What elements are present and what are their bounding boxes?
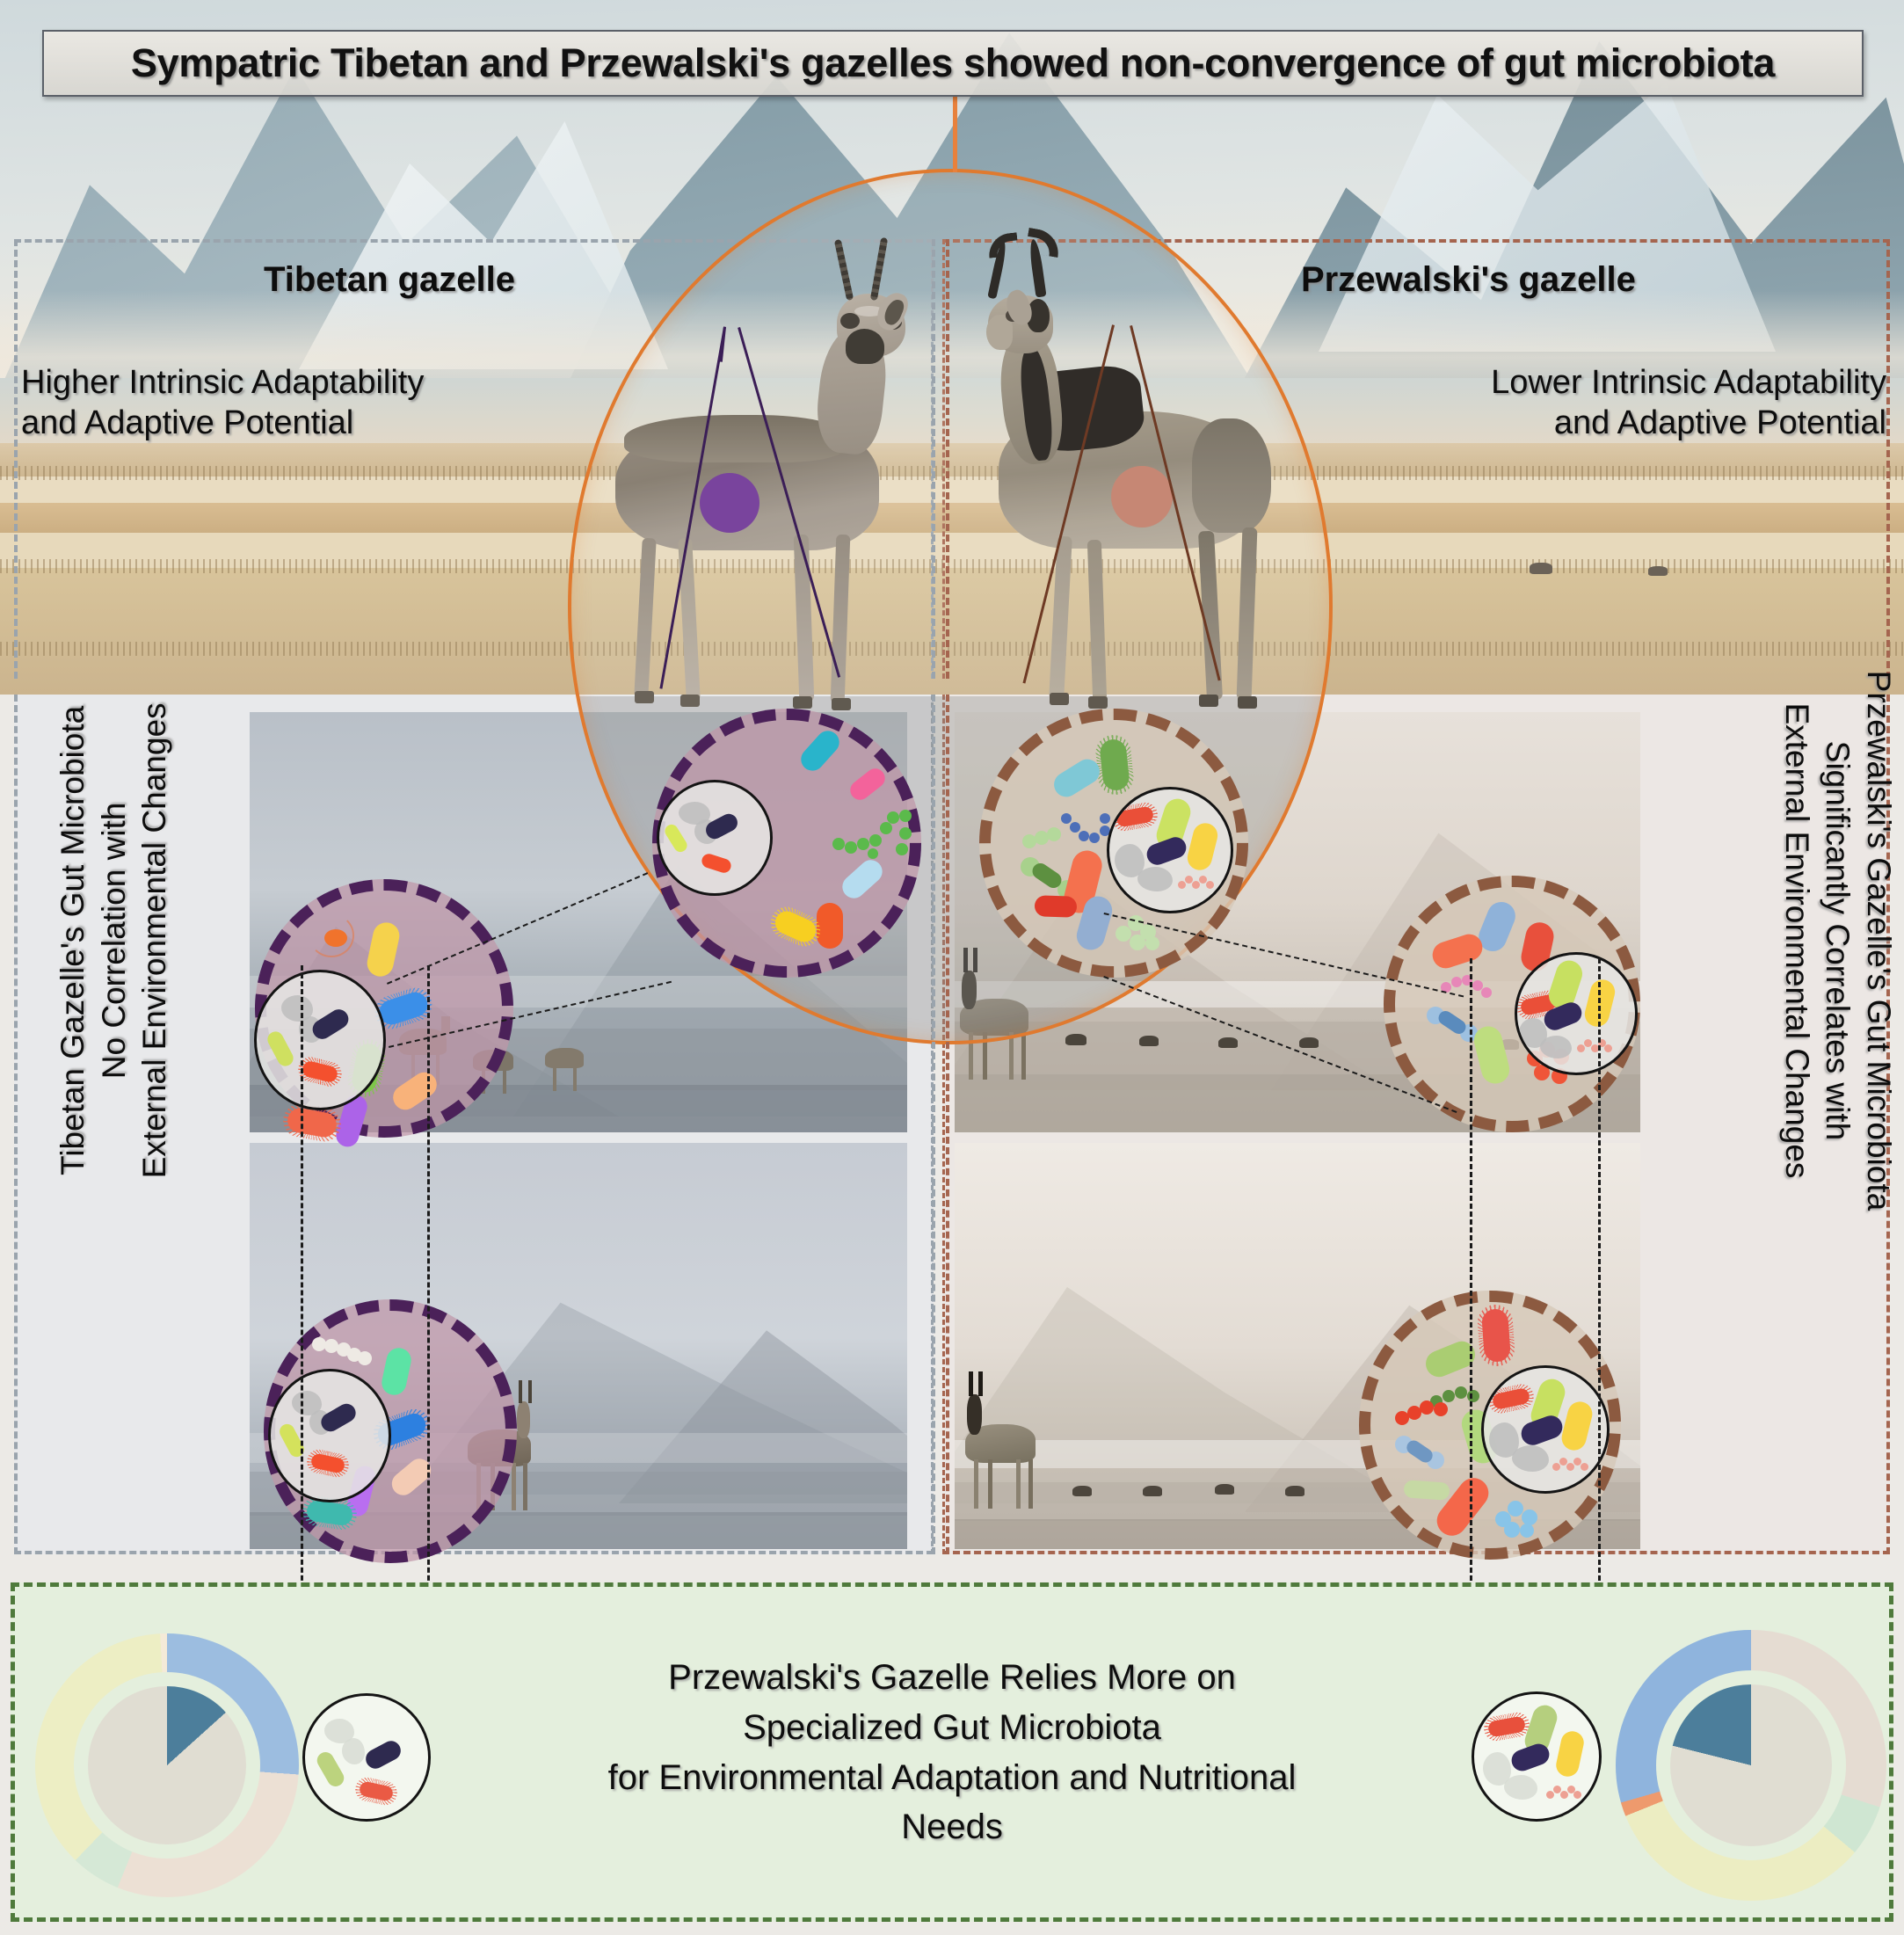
red-rod-icon	[1492, 1387, 1531, 1410]
blue-diplo-icon	[1395, 1434, 1444, 1471]
graphical-abstract: Sympatric Tibetan and Przewalski's gazel…	[0, 0, 1904, 1935]
yellow-rod-icon	[1554, 1729, 1586, 1779]
tibetan-correlation-label: Tibetan Gazelle's Gut Microbiota No Corr…	[53, 607, 176, 1275]
quadrant-divider-left-top	[932, 239, 935, 679]
white-coccus-chain-icon	[312, 1337, 382, 1367]
przewalski-correlation-line3: External Environmental Changes	[1776, 589, 1817, 1292]
darkpurple-rod-icon	[1518, 1413, 1566, 1449]
pink-spiral-icon	[1552, 1458, 1589, 1473]
red-rod-icon	[1116, 805, 1154, 827]
pink-rod-icon	[847, 765, 889, 804]
distant-animal-icon	[1218, 1037, 1238, 1048]
conclusion-line3: for Environmental Adaptation and Nutriti…	[556, 1753, 1348, 1853]
red-flagellated-rod-icon	[1481, 1308, 1511, 1363]
yellowgreen-rod-icon	[265, 1029, 296, 1069]
cyan-rod-icon	[796, 726, 844, 775]
coral-rod-icon	[286, 1106, 338, 1138]
pink-coccus-chain-icon	[1441, 975, 1492, 1001]
green-coccus-chain-icon	[831, 808, 915, 857]
distant-animal-icon	[1285, 1486, 1304, 1496]
red-flagellated-rod-icon	[1487, 1715, 1526, 1737]
yellowgreen-rod-icon	[663, 822, 690, 855]
tibetan-microbiota-circle-upper	[255, 879, 513, 1138]
red-coccus-chain-icon	[1395, 1400, 1453, 1425]
przewalski-species-label: Przewalski's gazelle	[1301, 260, 1636, 300]
peach-rod-icon	[389, 1067, 441, 1114]
summary-guide-line-right	[1470, 958, 1472, 1691]
quadrant-divider-left	[932, 695, 935, 1554]
red-rod-icon	[700, 852, 732, 875]
darkpurple-rod-icon	[1508, 1741, 1552, 1774]
distant-animal-icon	[1065, 1034, 1086, 1045]
pie-chart-tibetan	[35, 1633, 299, 1897]
distant-animal-icon	[1299, 1037, 1319, 1048]
pie-inner-ring	[88, 1686, 246, 1844]
quadrant-divider-right	[946, 695, 949, 1554]
green-flagellated-rod-icon	[1099, 738, 1130, 792]
orange-rod-icon	[817, 903, 843, 949]
green-coccus-chain-icon	[1022, 827, 1070, 850]
distant-animal-icon	[1139, 1036, 1159, 1046]
pink-spiral-icon	[1577, 1039, 1612, 1055]
pie-chart-przewalski	[1616, 1630, 1886, 1901]
teal-flagellated-rod-icon	[306, 1499, 354, 1526]
przewalski-correlation-label: Przewalski's Gazelle's Gut Microbiota Si…	[1776, 589, 1899, 1292]
gray-blob-icon	[1137, 867, 1173, 891]
gray-blob-icon	[1504, 1775, 1537, 1800]
gray-blob-icon	[1512, 1445, 1549, 1472]
yellow-flagellated-rod-icon	[772, 907, 819, 945]
yellow-rod-icon	[365, 920, 402, 979]
conclusion-line2: Specialized Gut Microbiota	[556, 1703, 1348, 1753]
page-title: Sympatric Tibetan and Przewalski's gazel…	[131, 40, 1775, 86]
distant-animal-icon	[1215, 1484, 1234, 1495]
red-rod-icon	[310, 1452, 346, 1474]
yellow-rod-icon	[1185, 820, 1220, 872]
distant-animal-icon	[1143, 1486, 1162, 1496]
blue-flagellated-rod-icon	[376, 989, 431, 1028]
pink-spiral-icon	[1546, 1786, 1581, 1801]
pink-spiral-icon	[1178, 876, 1215, 891]
yellowgreen-rod-icon	[1471, 1023, 1512, 1087]
darkpurple-rod-icon	[1144, 834, 1188, 868]
pie-inner-ring	[1670, 1684, 1832, 1846]
yellow-rod-icon	[1559, 1399, 1595, 1452]
przewalski-adaptability-line1: Lower Intrinsic Adaptability	[1306, 362, 1886, 403]
tibetan-correlation-line2: No Correlation with	[94, 607, 135, 1275]
tibetan-correlation-line1: Tibetan Gazelle's Gut Microbiota	[53, 607, 94, 1275]
coral-rod-icon	[1429, 931, 1486, 971]
przewalski-microbiota-circle-upper	[1384, 876, 1640, 1132]
tibetan-correlation-line3: External Environmental Changes	[134, 607, 176, 1275]
title-banner: Sympatric Tibetan and Przewalski's gazel…	[42, 30, 1864, 97]
magnifier-lens-icon	[1515, 952, 1638, 1075]
conclusion-text: Przewalski's Gazelle Relies More on Spec…	[556, 1653, 1348, 1852]
tibetan-adaptability-line2: and Adaptive Potential	[21, 403, 424, 443]
tibetan-species-label: Tibetan gazelle	[264, 260, 515, 300]
summary-guide-line-right	[1598, 958, 1601, 1691]
darkblue-rod-icon	[362, 1737, 403, 1771]
gray-blob-icon	[342, 1738, 365, 1764]
przewalski-correlation-line2: Significantly Correlates with	[1817, 589, 1858, 1292]
mint-rod-icon	[380, 1346, 414, 1398]
title-connector-line	[953, 97, 957, 172]
summary-lens-tibetan	[302, 1693, 431, 1822]
tibetan-adaptability-line1: Higher Intrinsic Adaptability	[21, 362, 424, 403]
blue-cluster-icon	[1495, 1501, 1544, 1539]
gray-blob-icon	[1540, 1036, 1572, 1058]
darkblue-rod-icon	[318, 1400, 360, 1435]
magnifier-lens-icon	[254, 970, 386, 1110]
przewalski-adaptability-label: Lower Intrinsic Adaptability and Adaptiv…	[1306, 362, 1886, 444]
przewalski-correlation-line1: Przewalski's Gazelle's Gut Microbiota	[1857, 589, 1899, 1292]
red-flagellated-rod-icon	[359, 1780, 395, 1802]
tibetan-microbiota-circle-center	[652, 709, 921, 978]
magnifier-lens-icon	[1481, 1365, 1610, 1494]
lightblue-rod-icon	[838, 855, 887, 903]
distant-animal-icon	[1072, 1486, 1092, 1496]
tibetan-adaptability-label: Higher Intrinsic Adaptability and Adapti…	[21, 362, 424, 444]
summary-lens-przewalski	[1472, 1691, 1602, 1822]
quadrant-divider-right-top	[946, 239, 949, 679]
przewalski-adaptability-line2: and Adaptive Potential	[1306, 403, 1886, 443]
magnifier-lens-icon	[657, 780, 773, 896]
conclusion-line1: Przewalski's Gazelle Relies More on	[556, 1653, 1348, 1703]
przewalski-microbiota-circle-lower	[1359, 1291, 1621, 1560]
magnifier-lens-icon	[268, 1369, 391, 1502]
magnifier-lens-icon	[1107, 787, 1233, 913]
darkblue-rod-icon	[309, 1006, 352, 1043]
red-rod-icon	[301, 1059, 338, 1083]
pale-rod-icon	[1403, 1480, 1450, 1501]
red-rod-icon	[1035, 895, 1078, 918]
orange-flagellated-icon	[309, 913, 360, 961]
